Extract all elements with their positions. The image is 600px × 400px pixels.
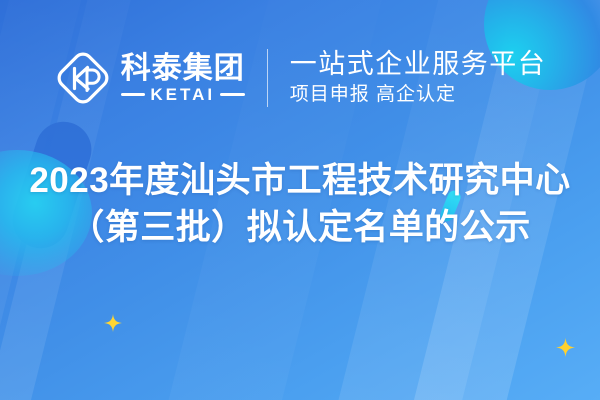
slogan-main-text: 一站式企业服务平台 bbox=[290, 49, 547, 80]
company-logo: 科泰集团 KETAI bbox=[54, 49, 245, 107]
slogan-sub-text: 项目申报 高企认定 bbox=[290, 83, 547, 108]
title-line-2: （第三批）拟认定名单的公示 bbox=[0, 205, 600, 252]
logo-name-en-row: KETAI bbox=[121, 86, 245, 103]
slogan-block: 一站式企业服务平台 项目申报 高企认定 bbox=[290, 49, 547, 108]
page-title: 2023年度汕头市工程技术研究中心 （第三批）拟认定名单的公示 bbox=[0, 158, 600, 252]
logo-name-cn: 科泰集团 bbox=[121, 53, 245, 85]
sparkle-star-icon bbox=[556, 338, 575, 357]
logo-dash-left bbox=[121, 93, 146, 96]
header-divider bbox=[267, 49, 268, 107]
publicity-banner: 科泰集团 KETAI 一站式企业服务平台 项目申报 高企认定 2023年度汕头市… bbox=[0, 0, 600, 400]
ketai-diamond-kp-monogram-icon bbox=[54, 49, 112, 107]
banner-header: 科泰集团 KETAI 一站式企业服务平台 项目申报 高企认定 bbox=[0, 36, 600, 120]
sparkle-star-icon bbox=[104, 314, 122, 332]
logo-dash-right bbox=[220, 93, 245, 96]
title-line-1: 2023年度汕头市工程技术研究中心 bbox=[0, 158, 600, 205]
logo-name-en: KETAI bbox=[150, 86, 215, 103]
logo-wordmark: 科泰集团 KETAI bbox=[121, 53, 245, 104]
